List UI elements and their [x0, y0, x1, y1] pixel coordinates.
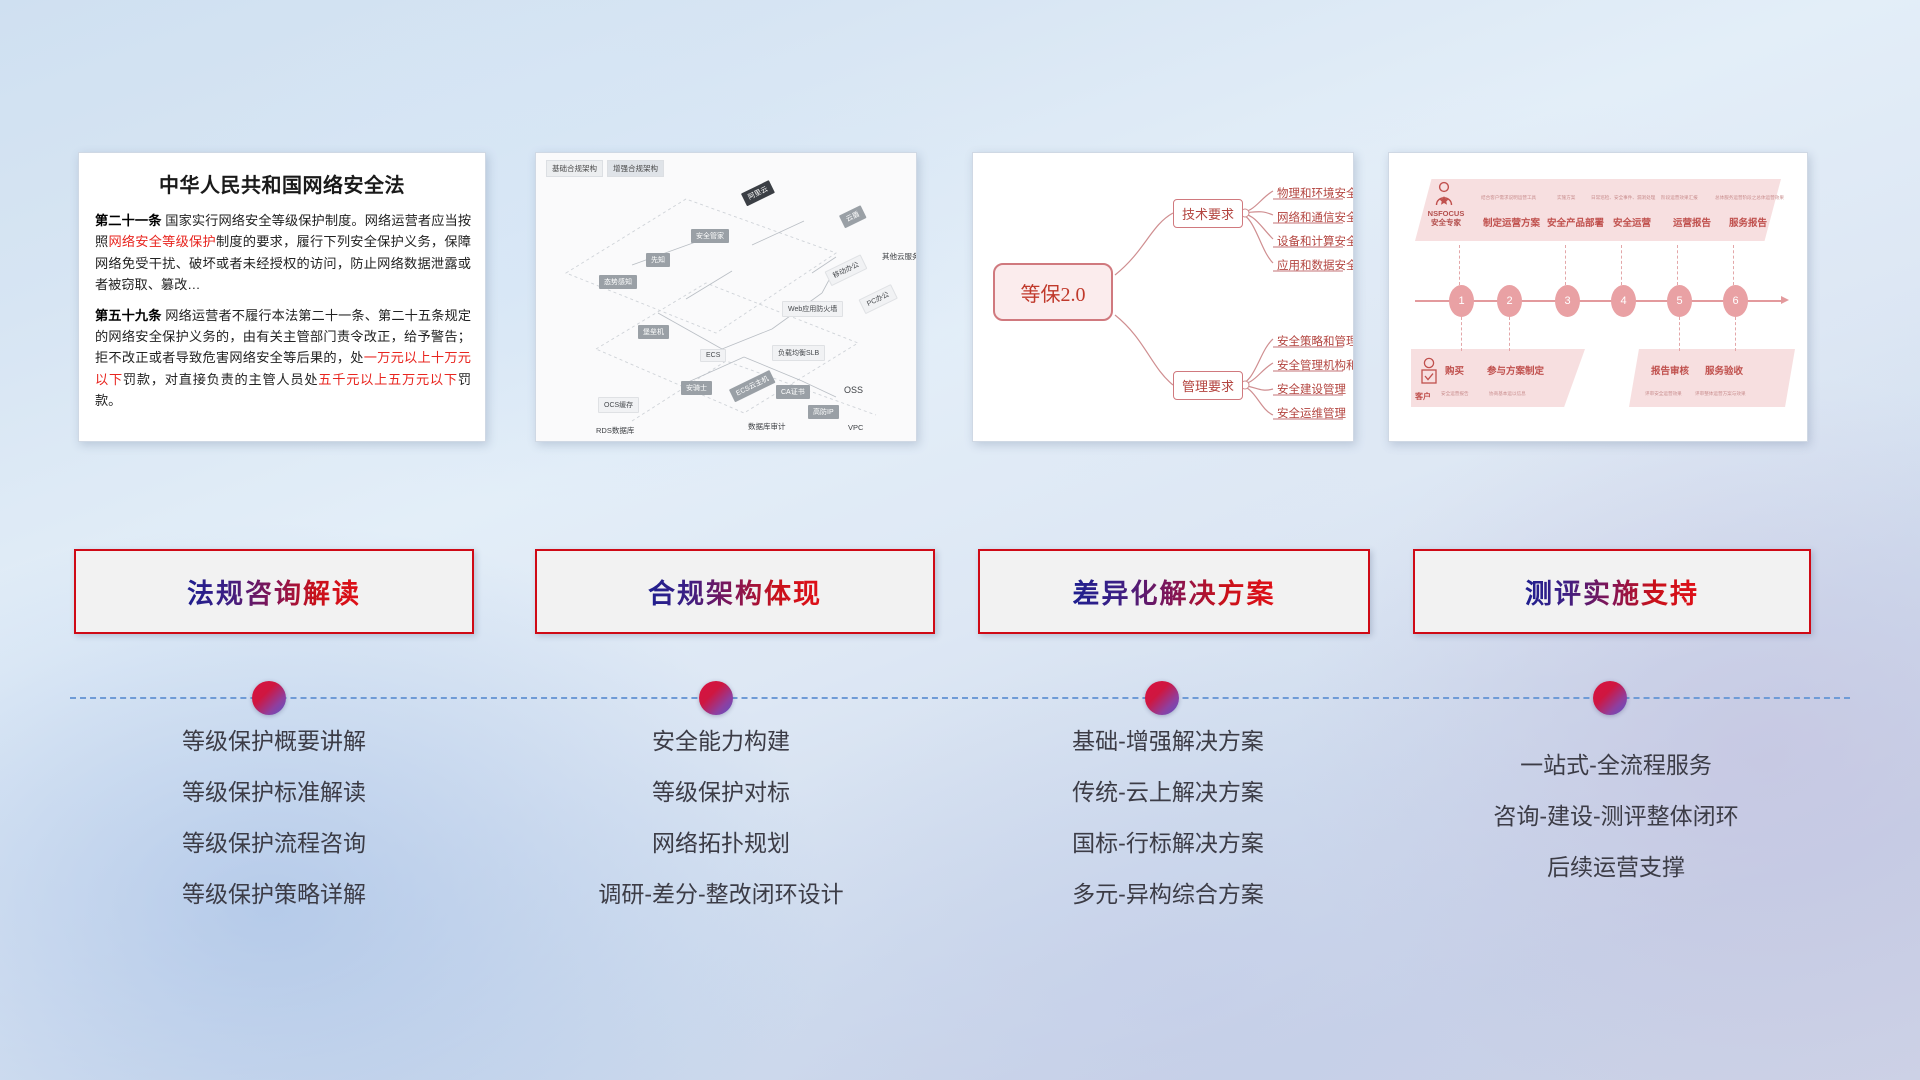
- mindmap-leaf-app-data: 应用和数据安全: [1277, 257, 1354, 273]
- nsfocus-bottom-title-1: 购买: [1445, 363, 1464, 377]
- arch-node-ecs: ECS: [700, 349, 726, 362]
- arch-node-ca-cert: CA证书: [776, 385, 810, 399]
- mindmap-branch-management: 管理要求: [1173, 371, 1243, 400]
- detail-list-column-4: 一站式-全流程服务 咨询-建设-测评整体闭环 后续运营支撑: [1420, 754, 1812, 907]
- nsfocus-top-title-3: 安全运营: [1613, 215, 1651, 229]
- timeline-dot-1[interactable]: [252, 681, 286, 715]
- arch-node-slb: 负载均衡SLB: [772, 345, 825, 361]
- arch-node-rds: RDS数据库: [596, 425, 634, 436]
- headline-box-regulation-consulting[interactable]: 法规咨询解读: [74, 549, 474, 634]
- nsfocus-top-title-2: 安全产品部署: [1547, 215, 1604, 229]
- mindmap-leaf-policy-system: 安全策略和管理制度: [1277, 333, 1354, 349]
- list-item: 等级保护策略详解: [78, 883, 470, 906]
- nsfocus-bottom-sub-4: 评审整体运营方案与效果: [1695, 391, 1746, 397]
- architecture-connectors: [536, 153, 917, 442]
- headline-label-3: 差异化解决方案: [1073, 572, 1276, 611]
- nsfocus-top-sub-4: 阶段运营效果汇报: [1661, 195, 1698, 201]
- law-title: 中华人民共和国网络安全法: [79, 169, 485, 198]
- card-nsfocus-service-timeline[interactable]: NSFOCUS 安全专家 结合客户需求说明运营工具 制定运营方案 实施方案 安全…: [1388, 152, 1808, 442]
- list-item: 多元-异构综合方案: [972, 883, 1364, 906]
- arch-node-oss: OSS: [844, 385, 863, 395]
- list-item: 基础-增强解决方案: [972, 730, 1364, 753]
- dash-connector-bottom-4: [1735, 317, 1736, 351]
- mindmap-root-node: 等保2.0: [993, 263, 1113, 321]
- timeline-dot-2[interactable]: [699, 681, 733, 715]
- list-item: 网络拓扑规划: [525, 832, 917, 855]
- mindmap-branch-technical: 技术要求: [1173, 199, 1243, 228]
- expert-person-icon: [1433, 181, 1455, 207]
- list-item: 安全能力构建: [525, 730, 917, 753]
- list-item: 一站式-全流程服务: [1420, 754, 1812, 777]
- nsfocus-brand-line1: NSFOCUS: [1415, 209, 1477, 218]
- arch-node-ocs-cache: OCS缓存: [598, 397, 639, 413]
- dash-connector-bottom-1: [1461, 317, 1462, 351]
- nsfocus-top-sub-2: 实施方案: [1557, 195, 1575, 201]
- arch-node-situational-awareness: 态势感知: [599, 275, 637, 289]
- nsfocus-top-title-1: 制定运营方案: [1483, 215, 1540, 229]
- list-item: 国标-行标解决方案: [972, 832, 1364, 855]
- list-item: 后续运营支撑: [1420, 856, 1812, 879]
- dash-connector-top-4: [1677, 245, 1678, 285]
- list-item: 咨询-建设-测评整体闭环: [1420, 805, 1812, 828]
- dash-connector-bottom-2: [1509, 317, 1510, 351]
- mindmap-leaf-org-personnel: 安全管理机构和人员: [1277, 357, 1354, 373]
- arch-node-anti-ddos-ip: 高防IP: [808, 405, 839, 419]
- law-article-21-highlight: 网络安全等级保护: [108, 234, 216, 249]
- timeline-step-3: 3: [1555, 285, 1580, 317]
- dash-connector-top-1: [1459, 245, 1460, 285]
- dash-connector-bottom-3: [1679, 317, 1680, 351]
- headline-label-1: 法规咨询解读: [187, 572, 361, 611]
- nsfocus-top-sub-3: 日常巡检、安全事件、漏洞处理: [1591, 195, 1655, 201]
- nsfocus-bottom-title-2: 参与方案制定: [1487, 363, 1544, 377]
- law-article-59: 第五十九条 网络运营者不履行本法第二十一条、第二十五条规定的网络安全保护义务的，…: [79, 305, 485, 412]
- nsfocus-top-title-5: 服务报告: [1729, 215, 1767, 229]
- nsfocus-bottom-sub-3: 评审安全运营效果: [1645, 391, 1682, 397]
- nsfocus-top-sub-5: 总体服务运营阶段之总体运营效果: [1715, 195, 1784, 201]
- timeline-arrow-icon: [1781, 296, 1789, 304]
- nsfocus-brand: NSFOCUS 安全专家: [1415, 209, 1477, 228]
- mindmap-leaf-network-comm: 网络和通信安全: [1277, 209, 1354, 225]
- law-article-59-text-b: 罚款，对直接负责的主管人员处: [123, 372, 318, 387]
- nsfocus-customer-label: 客户: [1415, 391, 1431, 402]
- nsfocus-brand-line2: 安全专家: [1415, 218, 1477, 227]
- arch-node-bastion-host: 堡垒机: [638, 325, 669, 339]
- timeline-step-1: 1: [1449, 285, 1474, 317]
- nsfocus-top-sub-1: 结合客户需求说明运营工具: [1481, 195, 1536, 201]
- detail-list-column-3: 基础-增强解决方案 传统-云上解决方案 国标-行标解决方案 多元-异构综合方案: [972, 730, 1364, 934]
- list-item: 等级保护概要讲解: [78, 730, 470, 753]
- detail-list-column-1: 等级保护概要讲解 等级保护标准解读 等级保护流程咨询 等级保护策略详解: [78, 730, 470, 934]
- nsfocus-timeline: NSFOCUS 安全专家 结合客户需求说明运营工具 制定运营方案 实施方案 安全…: [1389, 153, 1807, 441]
- card-cybersecurity-law[interactable]: 中华人民共和国网络安全法 第二十一条 国家实行网络安全等级保护制度。网络运营者应…: [78, 152, 486, 442]
- nsfocus-bottom-right-band: [1629, 349, 1795, 407]
- list-item: 等级保护标准解读: [78, 781, 470, 804]
- dash-connector-top-5: [1733, 245, 1734, 285]
- mindmap: 等保2.0 技术要求 物理和环境安全 网络和通信安全 设备和计算安全 应用和数据…: [973, 153, 1353, 441]
- timeline-step-6: 6: [1723, 285, 1748, 317]
- mindmap-leaf-physical-env: 物理和环境安全: [1277, 185, 1354, 201]
- nsfocus-bottom-title-3: 报告审核: [1651, 363, 1689, 377]
- timeline-step-4: 4: [1611, 285, 1636, 317]
- nsfocus-bottom-sub-2: 协商基本运以信息: [1489, 391, 1526, 397]
- arch-node-db-audit: 数据库审计: [748, 421, 786, 432]
- arch-node-xianzhi: 先知: [646, 253, 670, 267]
- arch-node-anqishi: 安骑士: [681, 381, 712, 395]
- list-item: 等级保护流程咨询: [78, 832, 470, 855]
- arch-node-other-cloud: 其他云服务: [882, 251, 917, 262]
- law-article-21: 第二十一条 国家实行网络安全等级保护制度。网络运营者应当按照网络安全等级保护制度…: [79, 210, 485, 296]
- law-article-21-label: 第二十一条: [95, 213, 162, 228]
- nsfocus-bottom-sub-1: 安全运营报告: [1441, 391, 1469, 397]
- card-cloud-architecture[interactable]: 基础合规架构 增强合规架构: [535, 152, 917, 442]
- headline-box-differentiated-solution[interactable]: 差异化解决方案: [978, 549, 1370, 634]
- list-item: 调研-差分-整改闭环设计: [525, 883, 917, 906]
- nsfocus-bottom-title-4: 服务验收: [1705, 363, 1743, 377]
- headline-label-4: 测评实施支持: [1525, 572, 1699, 611]
- arch-node-vpc: VPC: [848, 423, 863, 432]
- mindmap-leaf-ops-mgmt: 安全运维管理: [1277, 405, 1346, 421]
- list-item: 传统-云上解决方案: [972, 781, 1364, 804]
- arch-node-waf: Web应用防火墙: [782, 301, 843, 317]
- timeline-dot-4[interactable]: [1593, 681, 1627, 715]
- list-item: 等级保护对标: [525, 781, 917, 804]
- detail-list-column-2: 安全能力构建 等级保护对标 网络拓扑规划 调研-差分-整改闭环设计: [525, 730, 917, 934]
- headline-box-compliance-architecture[interactable]: 合规架构体现: [535, 549, 935, 634]
- law-article-59-label: 第五十九条: [95, 308, 162, 323]
- architecture-diagram: 基础合规架构 增强合规架构: [536, 153, 916, 441]
- preview-cards-row: 中华人民共和国网络安全法 第二十一条 国家实行网络安全等级保护制度。网络运营者应…: [0, 0, 1920, 470]
- mindmap-leaf-construction-mgmt: 安全建设管理: [1277, 381, 1346, 397]
- dashed-timeline-line: [70, 697, 1850, 699]
- dash-connector-top-2: [1565, 245, 1566, 285]
- headline-label-2: 合规架构体现: [648, 572, 822, 611]
- timeline-step-5: 5: [1667, 285, 1692, 317]
- timeline-step-2: 2: [1497, 285, 1522, 317]
- headline-box-evaluation-support[interactable]: 测评实施支持: [1413, 549, 1811, 634]
- timeline-dot-3[interactable]: [1145, 681, 1179, 715]
- customer-person-icon: [1419, 357, 1439, 389]
- dash-connector-top-3: [1621, 245, 1622, 285]
- law-article-59-highlight-2: 五千元以上五万元以下: [318, 372, 458, 387]
- card-mindmap-dengbao[interactable]: 等保2.0 技术要求 物理和环境安全 网络和通信安全 设备和计算安全 应用和数据…: [972, 152, 1354, 442]
- nsfocus-top-title-4: 运营报告: [1673, 215, 1711, 229]
- mindmap-leaf-device-compute: 设备和计算安全: [1277, 233, 1354, 249]
- arch-node-security-steward: 安全管家: [691, 229, 729, 243]
